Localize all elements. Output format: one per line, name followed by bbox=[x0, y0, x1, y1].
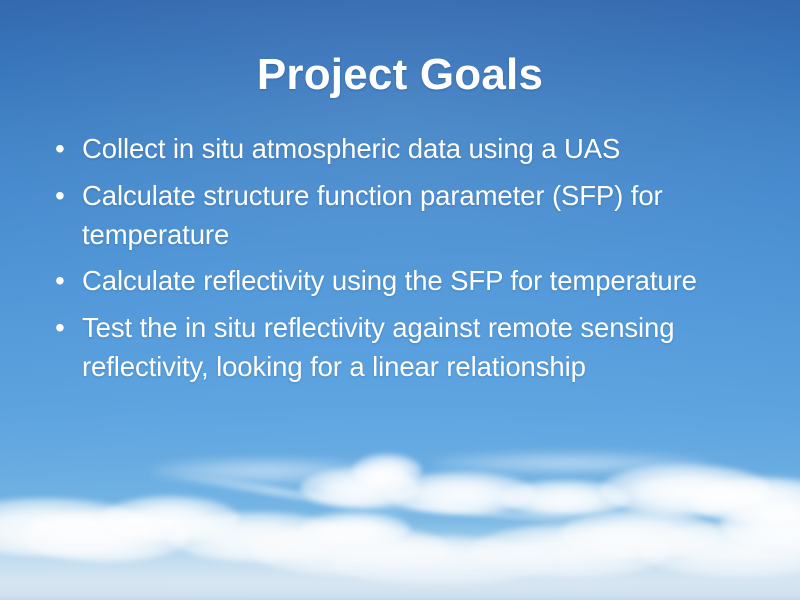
list-item: • Test the in situ reflectivity against … bbox=[48, 308, 748, 386]
list-item: • Calculate structure function parameter… bbox=[48, 176, 748, 254]
list-item-text: Calculate reflectivity using the SFP for… bbox=[82, 261, 748, 300]
list-item: • Collect in situ atmospheric data using… bbox=[48, 129, 748, 169]
slide-title: Project Goals bbox=[0, 52, 800, 98]
bullet-point-icon: • bbox=[48, 129, 82, 169]
list-item-text: Test the in situ reflectivity against re… bbox=[82, 308, 748, 386]
list-item: • Calculate reflectivity using the SFP f… bbox=[48, 261, 748, 301]
bullet-point-icon: • bbox=[48, 176, 82, 216]
bullet-point-icon: • bbox=[48, 308, 82, 348]
list-item-text: Collect in situ atmospheric data using a… bbox=[82, 129, 748, 168]
bullet-point-icon: • bbox=[48, 261, 82, 301]
bullet-list: • Collect in situ atmospheric data using… bbox=[48, 129, 748, 393]
horizon-haze-band bbox=[0, 522, 800, 600]
list-item-text: Calculate structure function parameter (… bbox=[82, 176, 748, 254]
cloud-layer bbox=[0, 450, 800, 600]
slide-canvas: Project Goals • Collect in situ atmosphe… bbox=[0, 0, 800, 600]
